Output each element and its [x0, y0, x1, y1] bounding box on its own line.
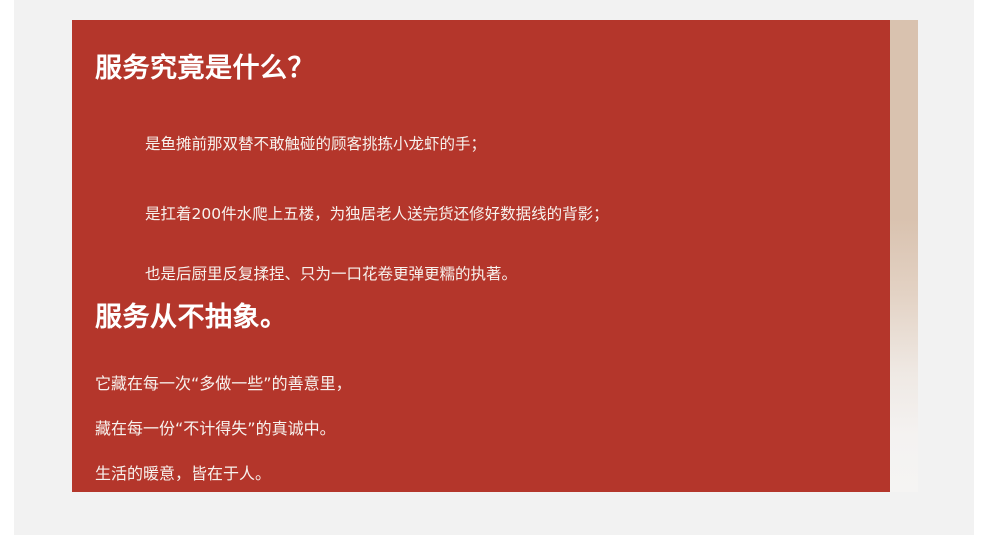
card-content: 服务究竟是什么？ 是鱼摊前那双替不敢触碰的顾客挑拣小龙虾的手； 是扛着200件水… [72, 20, 890, 492]
card-paragraph-1: 是鱼摊前那双替不敢触碰的顾客挑拣小龙虾的手； [145, 133, 486, 156]
service-statement-card: 服务究竟是什么？ 是鱼摊前那双替不敢触碰的顾客挑拣小龙虾的手； 是扛着200件水… [72, 20, 890, 492]
card-closing-line-3: 生活的暖意，皆在于人。 [95, 462, 271, 486]
card-paragraph-3: 也是后厨里反复揉捏、只为一口花卷更弹更糯的执著。 [145, 263, 517, 286]
decorative-accent-strip [890, 20, 918, 492]
card-closing-line-1: 它藏在每一次“多做一些”的善意里， [95, 372, 352, 396]
card-closing-line-2: 藏在每一份“不计得失”的真诚中。 [95, 417, 336, 441]
card-heading-primary: 服务究竟是什么？ [95, 53, 315, 85]
card-paragraph-2: 是扛着200件水爬上五楼，为独居老人送完货还修好数据线的背影； [145, 203, 609, 226]
card-heading-secondary: 服务从不抽象。 [95, 302, 288, 334]
